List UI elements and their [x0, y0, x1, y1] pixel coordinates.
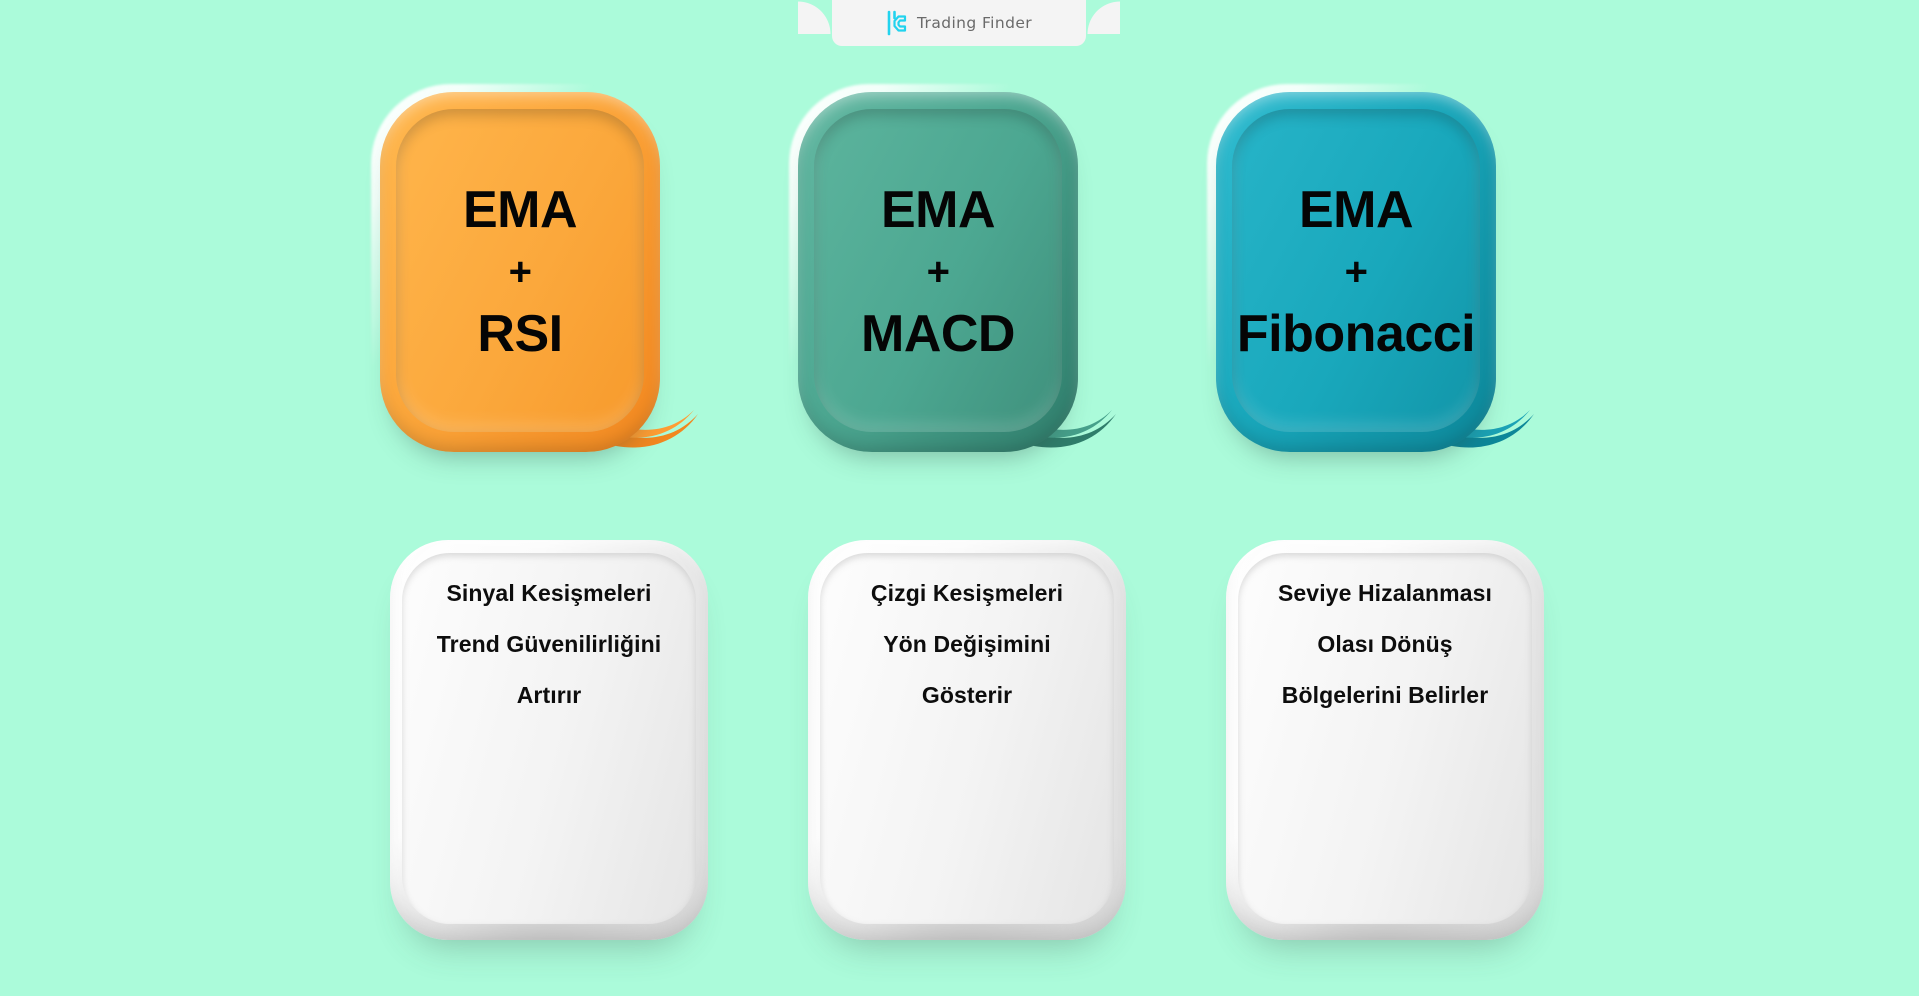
- tile-label-ema-rsi: EMA + RSI: [356, 177, 684, 367]
- tile-label-line: MACD: [774, 301, 1102, 367]
- tile-label-line: EMA: [774, 177, 1102, 243]
- card-ema-macd: Çizgi Kesişmeleri Yön Değişimini Gösteri…: [798, 0, 1138, 996]
- indicator-tile-ema-fibonacci[interactable]: EMA + Fibonacci: [1216, 92, 1496, 452]
- tile-label-line: EMA: [356, 177, 684, 243]
- description-line: Yön Değişimini: [814, 619, 1120, 670]
- tile-label-plus: +: [1192, 243, 1520, 301]
- description-line: Bölgelerini Belirler: [1232, 670, 1538, 721]
- card-ema-fibonacci: Seviye Hizalanması Olası Dönüş Bölgeleri…: [1216, 0, 1556, 996]
- description-line: Çizgi Kesişmeleri: [814, 568, 1120, 619]
- tile-label-plus: +: [774, 243, 1102, 301]
- tile-label-ema-macd: EMA + MACD: [774, 177, 1102, 367]
- trading-finder-logo-icon: [886, 10, 908, 36]
- description-line: Artırır: [396, 670, 702, 721]
- tile-label-line: Fibonacci: [1192, 301, 1520, 367]
- tile-label-ema-fibonacci: EMA + Fibonacci: [1192, 177, 1520, 367]
- indicator-tile-ema-macd[interactable]: EMA + MACD: [798, 92, 1078, 452]
- brand-name: Trading Finder: [917, 14, 1032, 32]
- indicator-tile-ema-rsi[interactable]: EMA + RSI: [380, 92, 660, 452]
- card-ema-rsi: Sinyal Kesişmeleri Trend Güvenilirliğini…: [380, 0, 720, 996]
- cards-row: Sinyal Kesişmeleri Trend Güvenilirliğini…: [0, 0, 1919, 996]
- description-line: Trend Güvenilirliğini: [396, 619, 702, 670]
- description-text-ema-rsi: Sinyal Kesişmeleri Trend Güvenilirliğini…: [390, 568, 708, 721]
- description-text-ema-fibonacci: Seviye Hizalanması Olası Dönüş Bölgeleri…: [1226, 568, 1544, 721]
- tile-label-plus: +: [356, 243, 684, 301]
- description-line: Seviye Hizalanması: [1232, 568, 1538, 619]
- description-text-ema-macd: Çizgi Kesişmeleri Yön Değişimini Gösteri…: [808, 568, 1126, 721]
- tile-label-line: EMA: [1192, 177, 1520, 243]
- description-line: Olası Dönüş: [1232, 619, 1538, 670]
- description-card-ema-fibonacci: Seviye Hizalanması Olası Dönüş Bölgeleri…: [1226, 540, 1544, 940]
- brand-logo-tab: Trading Finder: [832, 0, 1086, 46]
- description-line: Sinyal Kesişmeleri: [396, 568, 702, 619]
- description-line: Gösterir: [814, 670, 1120, 721]
- tile-label-line: RSI: [356, 301, 684, 367]
- description-card-ema-rsi: Sinyal Kesişmeleri Trend Güvenilirliğini…: [390, 540, 708, 940]
- description-card-ema-macd: Çizgi Kesişmeleri Yön Değişimini Gösteri…: [808, 540, 1126, 940]
